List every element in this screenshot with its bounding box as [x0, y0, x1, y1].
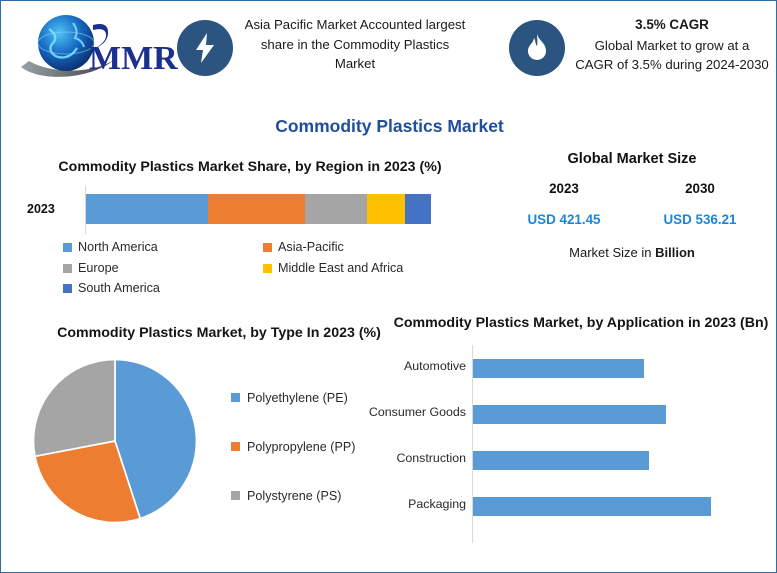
global-market-size-panel: Global Market Size 2023 USD 421.45 2030 … [496, 151, 768, 260]
region-chart-title: Commodity Plastics Market Share, by Regi… [15, 157, 485, 177]
market-size-unit: Market Size in Billion [496, 245, 768, 260]
mmr-logo: MMR [19, 9, 179, 87]
header-text-1: Asia Pacific Market Accounted largest sh… [243, 15, 467, 74]
legend-swatch-icon [263, 264, 272, 273]
application-category-label: Packaging [356, 497, 466, 513]
legend-label: North America [78, 238, 158, 258]
region-segment [208, 194, 305, 224]
market-size-unit-bold: Billion [655, 245, 695, 260]
legend-label: Middle East and Africa [278, 259, 403, 279]
market-size-2023: 2023 USD 421.45 [496, 181, 632, 227]
application-bar-row: Automotive [391, 359, 771, 405]
pie-chart-title: Commodity Plastics Market, by Type In 20… [9, 323, 429, 343]
legend-label: Polypropylene (PP) [247, 440, 356, 454]
application-bar-row: Consumer Goods [391, 405, 771, 451]
region-share-panel: Commodity Plastics Market Share, by Regi… [15, 157, 485, 317]
application-bar [473, 405, 666, 424]
header: MMR Asia Pacific Market Accounted larges… [1, 1, 777, 101]
application-bar [473, 451, 649, 470]
legend-label: Asia-Pacific [278, 238, 344, 258]
header-text-2: 3.5% CAGR Global Market to grow at a CAG… [575, 15, 769, 75]
application-panel: Commodity Plastics Market, by Applicatio… [391, 313, 771, 543]
flame-icon [509, 20, 565, 76]
legend-swatch-icon [231, 491, 240, 500]
region-stacked-bar-chart: 2023 [15, 186, 485, 234]
legend-item: South America [63, 279, 263, 299]
market-size-2030: 2030 USD 536.21 [632, 181, 768, 227]
infographic-canvas: MMR Asia Pacific Market Accounted larges… [0, 0, 777, 573]
cagr-description: Global Market to grow at a CAGR of 3.5% … [575, 38, 769, 73]
legend-item: Polystyrene (PS) [231, 471, 356, 520]
region-segment [405, 194, 431, 224]
legend-item: Polyethylene (PE) [231, 373, 356, 422]
application-bar-row: Construction [391, 451, 771, 497]
market-size-unit-prefix: Market Size in [569, 245, 655, 260]
application-category-label: Consumer Goods [356, 405, 466, 421]
lightning-bolt-icon [177, 20, 233, 76]
global-market-size-values: 2023 USD 421.45 2030 USD 536.21 [496, 181, 768, 227]
application-chart-title: Commodity Plastics Market, by Applicatio… [391, 313, 771, 333]
legend-item: Europe [63, 259, 263, 279]
year-label-2030: 2030 [632, 181, 768, 196]
application-bar [473, 359, 644, 378]
pie-chart [31, 357, 199, 525]
region-segment [367, 194, 405, 224]
application-category-label: Construction [356, 451, 466, 467]
application-bar-row: Packaging [391, 497, 771, 543]
logo-text: MMR [89, 40, 178, 77]
global-market-size-title: Global Market Size [496, 151, 768, 167]
value-2023: USD 421.45 [496, 212, 632, 227]
year-label-2023: 2023 [496, 181, 632, 196]
application-bar-chart: AutomotiveConsumer GoodsConstructionPack… [391, 345, 771, 543]
region-segment [305, 194, 367, 224]
value-2030: USD 536.21 [632, 212, 768, 227]
legend-swatch-icon [231, 393, 240, 402]
legend-swatch-icon [63, 243, 72, 252]
cagr-value: 3.5% CAGR [575, 15, 769, 35]
globe-icon: MMR [19, 9, 179, 87]
region-segment [86, 194, 208, 224]
legend-swatch-icon [231, 442, 240, 451]
application-category-label: Automotive [356, 359, 466, 375]
region-axis-label: 2023 [27, 202, 55, 216]
pie-slice [34, 360, 115, 457]
legend-item: North America [63, 238, 263, 258]
legend-swatch-icon [263, 243, 272, 252]
legend-label: Europe [78, 259, 119, 279]
legend-swatch-icon [63, 264, 72, 273]
legend-item: Asia-Pacific [263, 238, 463, 258]
header-highlight-cagr: 3.5% CAGR Global Market to grow at a CAG… [509, 15, 769, 75]
legend-item: Middle East and Africa [263, 259, 463, 279]
legend-label: South America [78, 279, 160, 299]
region-stacked-bar [86, 194, 431, 224]
legend-label: Polyethylene (PE) [247, 391, 348, 405]
legend-swatch-icon [63, 284, 72, 293]
legend-label: Polystyrene (PS) [247, 489, 341, 503]
region-legend: North AmericaAsia-PacificEuropeMiddle Ea… [63, 238, 463, 300]
application-bar [473, 497, 711, 516]
page-title: Commodity Plastics Market [1, 116, 777, 137]
legend-item: Polypropylene (PP) [231, 422, 356, 471]
header-highlight-asia-pacific: Asia Pacific Market Accounted largest sh… [177, 15, 467, 74]
pie-legend: Polyethylene (PE)Polypropylene (PP)Polys… [231, 373, 356, 520]
